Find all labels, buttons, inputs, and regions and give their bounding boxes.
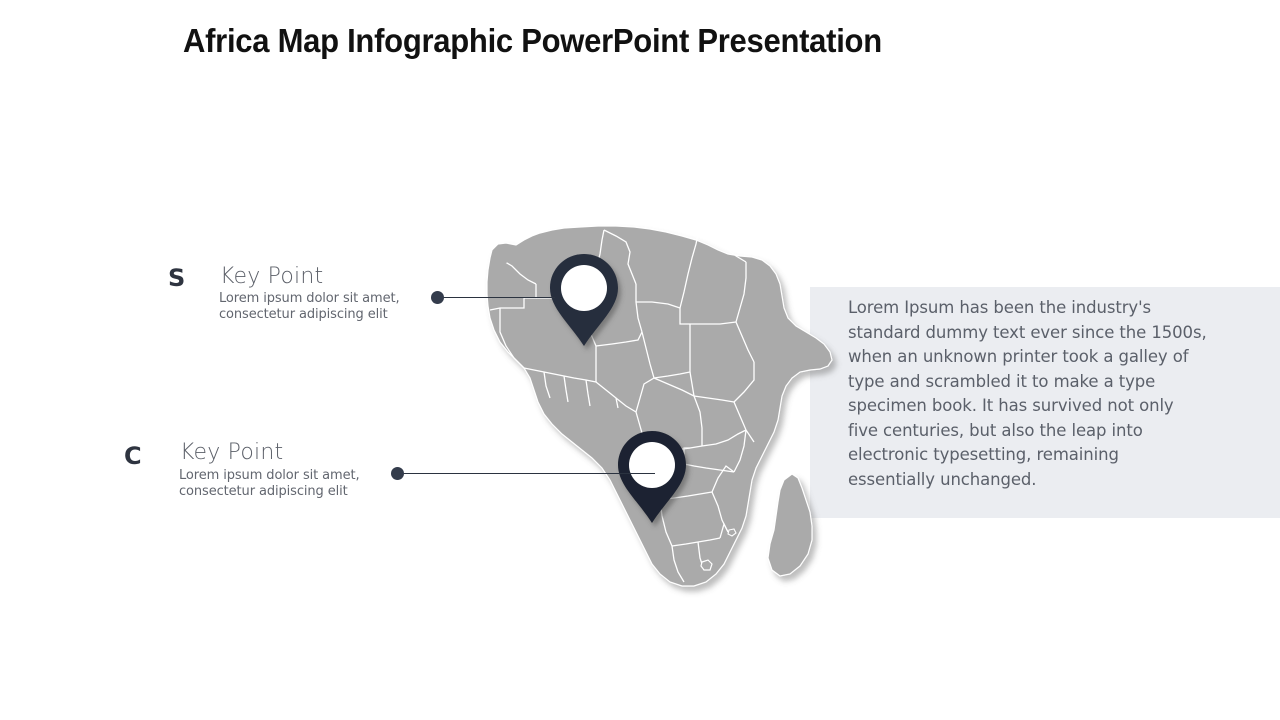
map-island-madagascar <box>768 474 812 576</box>
key-point-subtext-north: Lorem ipsum dolor sit amet, consectetur … <box>219 291 459 322</box>
key-point-heading-central: Key Point <box>180 440 283 465</box>
key-point-letter-north: S <box>168 264 185 292</box>
africa-map <box>440 212 840 627</box>
connector-line-central <box>403 473 655 474</box>
connector-line-north <box>443 297 555 298</box>
key-point-letter-central: C <box>124 442 142 470</box>
page-title: Africa Map Infographic PowerPoint Presen… <box>183 22 882 60</box>
key-point-subtext-central: Lorem ipsum dolor sit amet, consectetur … <box>179 468 419 499</box>
key-point-heading-north: Key Point <box>220 264 323 289</box>
info-panel-text: Lorem Ipsum has been the industry's stan… <box>848 296 1208 492</box>
